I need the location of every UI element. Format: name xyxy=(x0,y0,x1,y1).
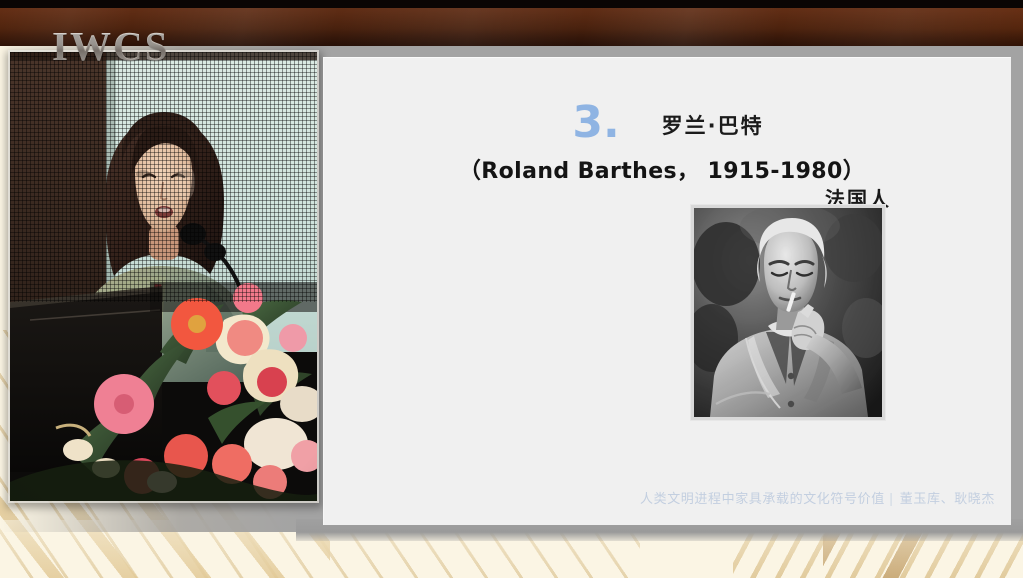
slide-footer: 人类文明进程中家具承载的文化符号价值|董玉库、耿晓杰 xyxy=(640,488,995,507)
roland-barthes-portrait xyxy=(694,208,882,417)
portrait-frame xyxy=(691,205,885,420)
slide-footer-authors: 董玉库、耿晓杰 xyxy=(900,492,995,507)
slide-footer-title: 人类文明进程中家具承载的文化符号价值 xyxy=(640,492,885,507)
slide-footer-separator: | xyxy=(889,492,894,507)
presentation-slide[interactable]: 3. 罗兰·巴特 （Roland Barthes， 1915-1980） 法国人 xyxy=(323,57,1011,525)
presentation-screen-capture: IWCS xyxy=(0,0,1023,578)
speaker-video-panel[interactable] xyxy=(10,52,317,501)
slide-heading-row: 3. 罗兰·巴特 xyxy=(324,102,1011,144)
top-letterbox-bar xyxy=(0,0,1023,8)
iwcs-logo: IWCS xyxy=(52,26,169,67)
slide-item-number: 3. xyxy=(572,102,619,144)
person-name-chinese: 罗兰·巴特 xyxy=(662,110,764,144)
portrait-illustration xyxy=(694,208,882,417)
person-name-english: （Roland Barthes， 1915-1980） xyxy=(324,153,1011,185)
speaker-video-frame xyxy=(10,52,317,501)
